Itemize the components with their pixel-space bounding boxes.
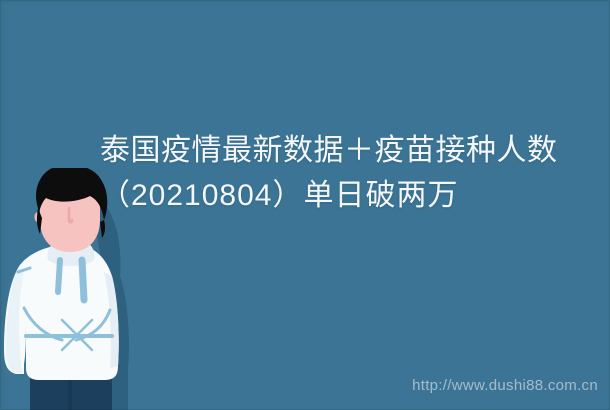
cover-title-line-1: 泰国疫情最新数据＋疫苗接种人数 (100, 128, 600, 173)
cover-title: 泰国疫情最新数据＋疫苗接种人数 （20210804）单日破两万 (100, 128, 600, 218)
watermark-url: http://www.dushi88.com.cn (412, 377, 598, 394)
article-cover-image: 泰国疫情最新数据＋疫苗接种人数 （20210804）单日破两万 http://w… (0, 0, 610, 410)
cover-title-line-2: （20210804）单日破两万 (100, 173, 600, 218)
